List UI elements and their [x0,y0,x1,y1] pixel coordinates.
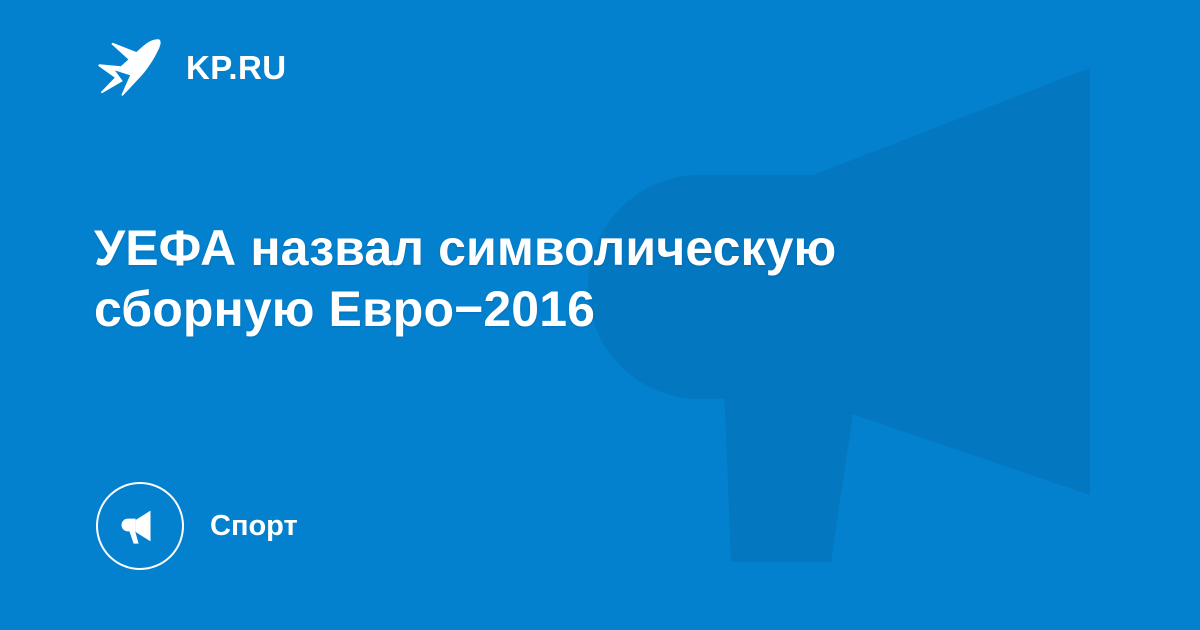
brand-name: KP.RU [186,51,286,84]
page-title: УЕФА назвал символическую сборную Евро−2… [94,218,994,340]
share-card: KP.RU УЕФА назвал символическую сборную … [0,0,1200,630]
category-badge-row[interactable]: Спорт [96,480,298,572]
brand-logo-row[interactable]: KP.RU [96,34,286,100]
megaphone-icon [117,503,163,549]
category-label: Спорт [210,512,298,541]
category-icon-circle [96,482,184,570]
swallow-bird-icon [96,36,162,98]
